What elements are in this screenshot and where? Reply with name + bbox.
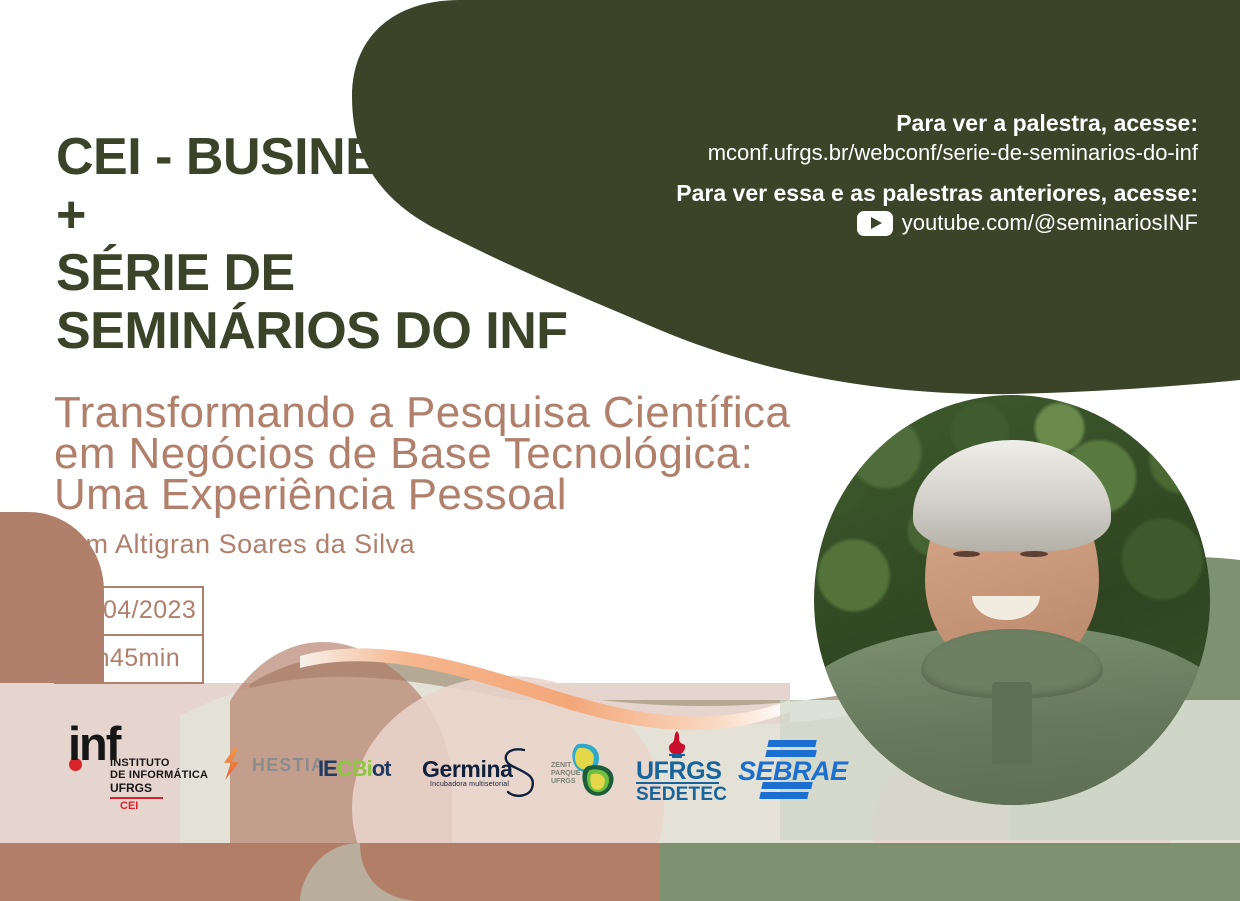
hestia-bolt-icon [218, 748, 246, 780]
logo-sebrae: SEBRAE [736, 740, 832, 796]
hestia-wordmark: HESTIA [252, 755, 325, 776]
event-title: CEI - BUSINESS + SÉRIE DE SEMINÁRIOS DO … [56, 128, 568, 360]
logo-germina: Germina Incubadora multisetorial [422, 748, 542, 798]
youtube-icon [857, 211, 893, 236]
speaker-name: com Altigran Soares da Silva [56, 529, 415, 560]
event-time: 12h45min [56, 634, 202, 682]
youtube-link-row[interactable]: youtube.com/@seminariosINF [578, 208, 1198, 238]
archive-link-label: Para ver essa e as palestras anteriores,… [578, 178, 1198, 208]
iecbiot-part1: IE [318, 756, 337, 781]
logo-zenit-parque-ufrgs: ZENIT PARQUE UFRGS [548, 740, 620, 802]
live-link-label: Para ver a palestra, acesse: [578, 108, 1198, 138]
sebrae-bar-1 [767, 740, 816, 747]
sebrae-bar-3 [761, 782, 812, 789]
iecbiot-part3: ot [372, 756, 391, 781]
event-date: 19/04/2023 [56, 588, 202, 634]
event-poster: CEI - BUSINESS + SÉRIE DE SEMINÁRIOS DO … [0, 0, 1240, 901]
ufrgs-torch-flame-icon [664, 730, 690, 758]
germina-swirl-icon [494, 744, 542, 802]
logo-inf-ufrgs-cei: inf INSTITUTO DE INFORMÁTICA UFRGS CEI [62, 718, 222, 810]
sebrae-bar-4 [759, 792, 808, 799]
inf-rule [110, 797, 163, 799]
logo-iecbiot: IECBiot [318, 756, 413, 782]
inf-institution: UFRGS [110, 782, 152, 794]
access-links: Para ver a palestra, acesse: mconf.ufrgs… [578, 108, 1198, 238]
inf-subtitle-line1: INSTITUTO [110, 757, 170, 769]
logo-ufrgs-sedetec: UFRGS SEDETEC [636, 730, 726, 804]
date-time-box: 19/04/2023 12h45min [54, 586, 204, 684]
bottom-sage-band [660, 843, 1240, 901]
inf-unit: CEI [120, 800, 138, 812]
talk-title: Transformando a Pesquisa Científica em N… [54, 392, 790, 515]
sponsor-logo-strip: inf INSTITUTO DE INFORMÁTICA UFRGS CEI H… [0, 718, 1240, 818]
archive-link-url[interactable]: youtube.com/@seminariosINF [902, 208, 1198, 238]
sedetec-unit: SEDETEC [636, 784, 727, 806]
iecbiot-part2: CBi [337, 756, 372, 781]
logo-hestia: HESTIA [218, 748, 328, 788]
live-link-url[interactable]: mconf.ufrgs.br/webconf/serie-de-seminari… [578, 138, 1198, 168]
zenit-label: ZENIT PARQUE UFRGS [551, 762, 580, 786]
inf-subtitle-line2: DE INFORMÁTICA [110, 769, 208, 781]
links-spacer [578, 168, 1198, 178]
